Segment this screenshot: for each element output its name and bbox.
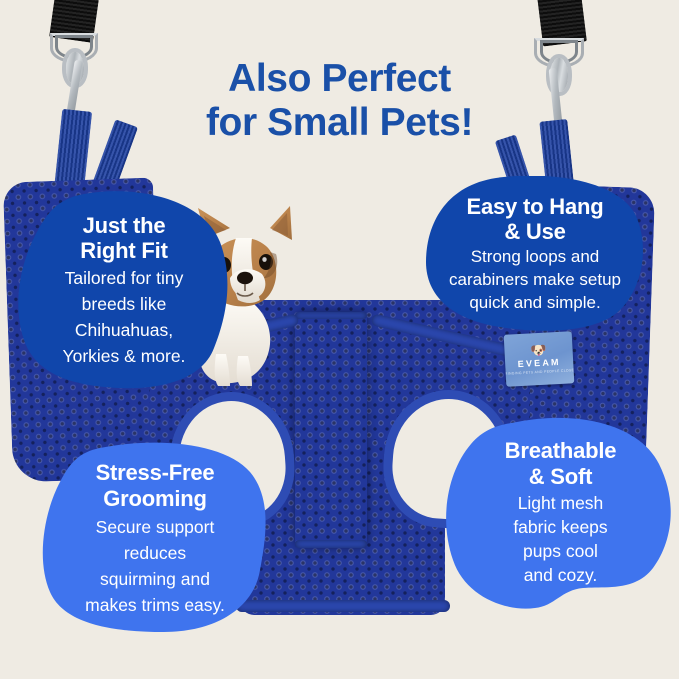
callout-heading-line-1: Stress-Free bbox=[96, 460, 215, 486]
callout-body-line-1: Light mesh bbox=[518, 493, 604, 514]
callout-heading-line-1: Easy to Hang bbox=[467, 194, 604, 219]
callout-heading-line-2: Grooming bbox=[103, 486, 207, 512]
callout-just-the-right-fit[interactable]: Just the Right Fit Tailored for tiny bre… bbox=[18, 190, 230, 390]
callout-text: Easy to Hang & Use Strong loops and cara… bbox=[424, 176, 646, 331]
callout-body-line-1: Tailored for tiny bbox=[65, 268, 184, 289]
callout-heading-line-2: & Use bbox=[504, 219, 565, 244]
title-line-2: for Small Pets! bbox=[0, 101, 679, 145]
callout-breathable-and-soft[interactable]: Breathable & Soft Light mesh fabric keep… bbox=[443, 416, 678, 632]
brand-tag: 🐶 EVEAM BRINGING PETS AND PEOPLE CLOSER bbox=[504, 331, 575, 386]
callout-heading-line-2: Right Fit bbox=[80, 238, 167, 263]
callout-stress-free-grooming[interactable]: Stress-Free Grooming Secure support redu… bbox=[40, 442, 270, 634]
callout-body-line-2: breeds like bbox=[82, 294, 167, 315]
brand-name: EVEAM bbox=[517, 357, 560, 369]
callout-body-line-1: Strong loops and bbox=[471, 247, 600, 267]
callout-body-line-3: squirming and bbox=[100, 569, 210, 590]
callout-body-line-4: makes trims easy. bbox=[85, 595, 225, 616]
callout-body-line-1: Secure support bbox=[96, 517, 215, 538]
page-title: Also Perfect for Small Pets! bbox=[0, 57, 679, 145]
callout-easy-to-hang-and-use[interactable]: Easy to Hang & Use Strong loops and cara… bbox=[424, 176, 646, 331]
callout-body-line-2: carabiners make setup bbox=[449, 270, 621, 290]
brand-logo-icon: 🐶 bbox=[530, 344, 547, 358]
center-strap-trim-bottom bbox=[295, 540, 367, 548]
callout-body-line-2: fabric keeps bbox=[513, 517, 607, 538]
callout-heading-line-2: & Soft bbox=[529, 464, 593, 490]
callout-text: Stress-Free Grooming Secure support redu… bbox=[40, 442, 270, 634]
callout-heading-line-1: Just the bbox=[83, 213, 166, 238]
infographic-canvas: 🐶 EVEAM BRINGING PETS AND PEOPLE CLOSER bbox=[0, 0, 679, 679]
callout-text: Just the Right Fit Tailored for tiny bre… bbox=[18, 190, 230, 390]
brand-tagline: BRINGING PETS AND PEOPLE CLOSER bbox=[504, 368, 575, 376]
callout-body-line-3: pups cool bbox=[523, 541, 598, 562]
callout-body-line-4: Yorkies & more. bbox=[63, 346, 186, 367]
callout-body-line-4: and cozy. bbox=[524, 565, 598, 586]
callout-body-line-2: reduces bbox=[124, 543, 186, 564]
callout-body-line-3: Chihuahuas, bbox=[75, 320, 173, 341]
title-line-1: Also Perfect bbox=[0, 57, 679, 101]
callout-text: Breathable & Soft Light mesh fabric keep… bbox=[443, 416, 678, 632]
callout-heading-line-1: Breathable bbox=[505, 438, 617, 464]
callout-body-line-3: quick and simple. bbox=[469, 293, 600, 313]
